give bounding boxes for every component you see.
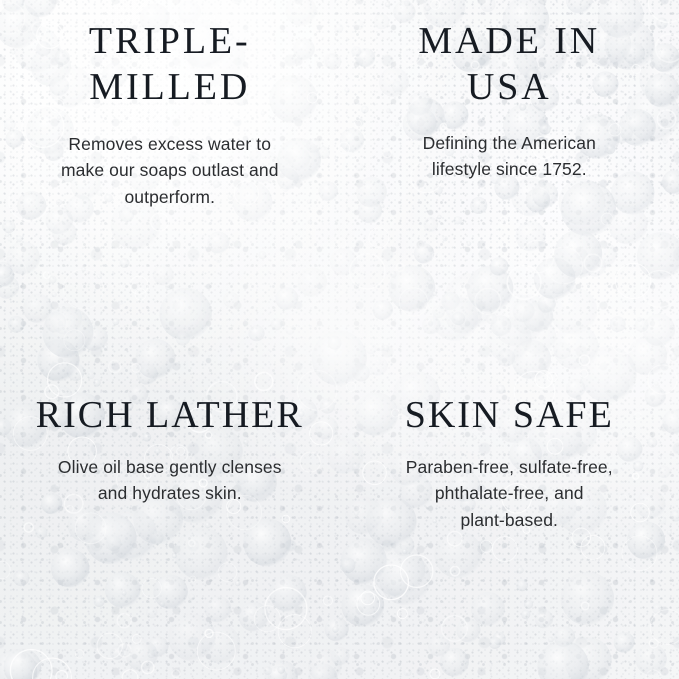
feature-heading-made-in-usa: MADE IN USA xyxy=(418,18,600,111)
feature-heading-rich-lather: RICH LATHER xyxy=(36,392,304,438)
feature-body-skin-safe: Paraben-free, sulfate-free, phthalate-fr… xyxy=(406,454,613,534)
feature-body-triple-milled: Removes excess water to make our soaps o… xyxy=(61,131,279,211)
features-grid: TRIPLE- MILLED Removes excess water to m… xyxy=(0,0,679,679)
feature-body-made-in-usa: Defining the American lifestyle since 17… xyxy=(423,130,596,183)
benefits-graphic: TRIPLE- MILLED Removes excess water to m… xyxy=(0,0,679,679)
feature-block-skin-safe: SKIN SAFE Paraben-free, sulfate-free, ph… xyxy=(340,340,679,679)
feature-block-made-in-usa: MADE IN USA Defining the American lifest… xyxy=(340,0,679,340)
feature-heading-skin-safe: SKIN SAFE xyxy=(405,392,614,438)
feature-block-rich-lather: RICH LATHER Olive oil base gently clense… xyxy=(0,340,340,679)
feature-heading-triple-milled: TRIPLE- MILLED xyxy=(89,18,251,111)
feature-block-triple-milled: TRIPLE- MILLED Removes excess water to m… xyxy=(0,0,340,340)
feature-body-rich-lather: Olive oil base gently clenses and hydrat… xyxy=(58,454,282,507)
